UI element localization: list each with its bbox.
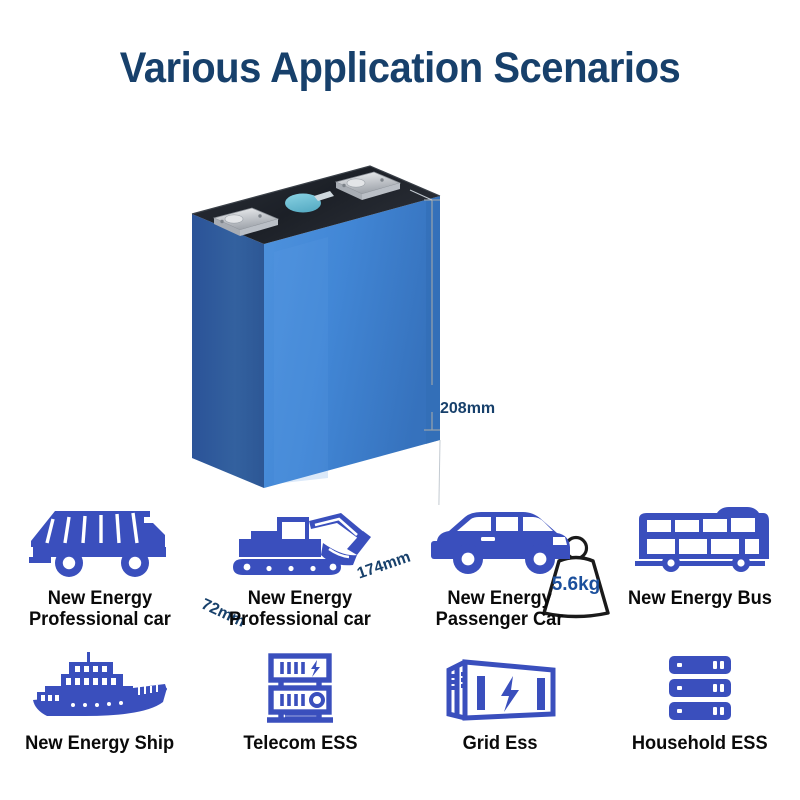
application-scenarios-grid: New Energy Professional car bbox=[0, 498, 800, 783]
scenario-label: New Energy Professional car bbox=[29, 588, 171, 631]
battery-svg bbox=[178, 140, 538, 500]
scenario-item-grid-ess[interactable]: Grid Ess bbox=[400, 643, 600, 783]
scenario-item-ship[interactable]: New Energy Ship bbox=[0, 643, 200, 783]
scenario-label: Household ESS bbox=[632, 733, 768, 754]
scenario-item-household-ess[interactable]: Household ESS bbox=[600, 643, 800, 783]
telecom-rack-icon bbox=[225, 647, 375, 729]
scenario-item-bus[interactable]: New Energy Bus bbox=[600, 498, 800, 643]
scenario-label: New Energy Ship bbox=[25, 733, 174, 754]
scenario-item-dump-truck[interactable]: New Energy Professional car bbox=[0, 498, 200, 643]
double-decker-bus-icon bbox=[625, 502, 775, 584]
scenario-item-excavator[interactable]: New Energy Professional car bbox=[200, 498, 400, 643]
dimension-height-label: 208mm bbox=[440, 400, 495, 418]
battery-cell-illustration bbox=[178, 140, 538, 500]
scenario-label: Telecom ESS bbox=[243, 733, 357, 754]
scenario-label: New Energy Passenger Car bbox=[436, 588, 564, 631]
product-hero: 208mm 174mm 72mm 5.6kg bbox=[0, 130, 800, 505]
passenger-car-icon bbox=[425, 502, 575, 584]
scenario-label: New Energy Professional car bbox=[229, 588, 371, 631]
page-title: Various Application Scenarios bbox=[28, 44, 772, 93]
product-marketing-banner: Various Application Scenarios bbox=[0, 0, 800, 800]
household-modules-icon bbox=[625, 647, 775, 729]
scenario-label: New Energy Bus bbox=[628, 588, 772, 609]
dump-truck-icon bbox=[25, 502, 175, 584]
grid-container-icon bbox=[425, 647, 575, 729]
excavator-icon bbox=[225, 502, 375, 584]
scenario-item-passenger-car[interactable]: New Energy Passenger Car bbox=[400, 498, 600, 643]
ship-icon bbox=[25, 647, 175, 729]
scenario-item-telecom-ess[interactable]: Telecom ESS bbox=[200, 643, 400, 783]
scenario-label: Grid Ess bbox=[462, 733, 537, 754]
